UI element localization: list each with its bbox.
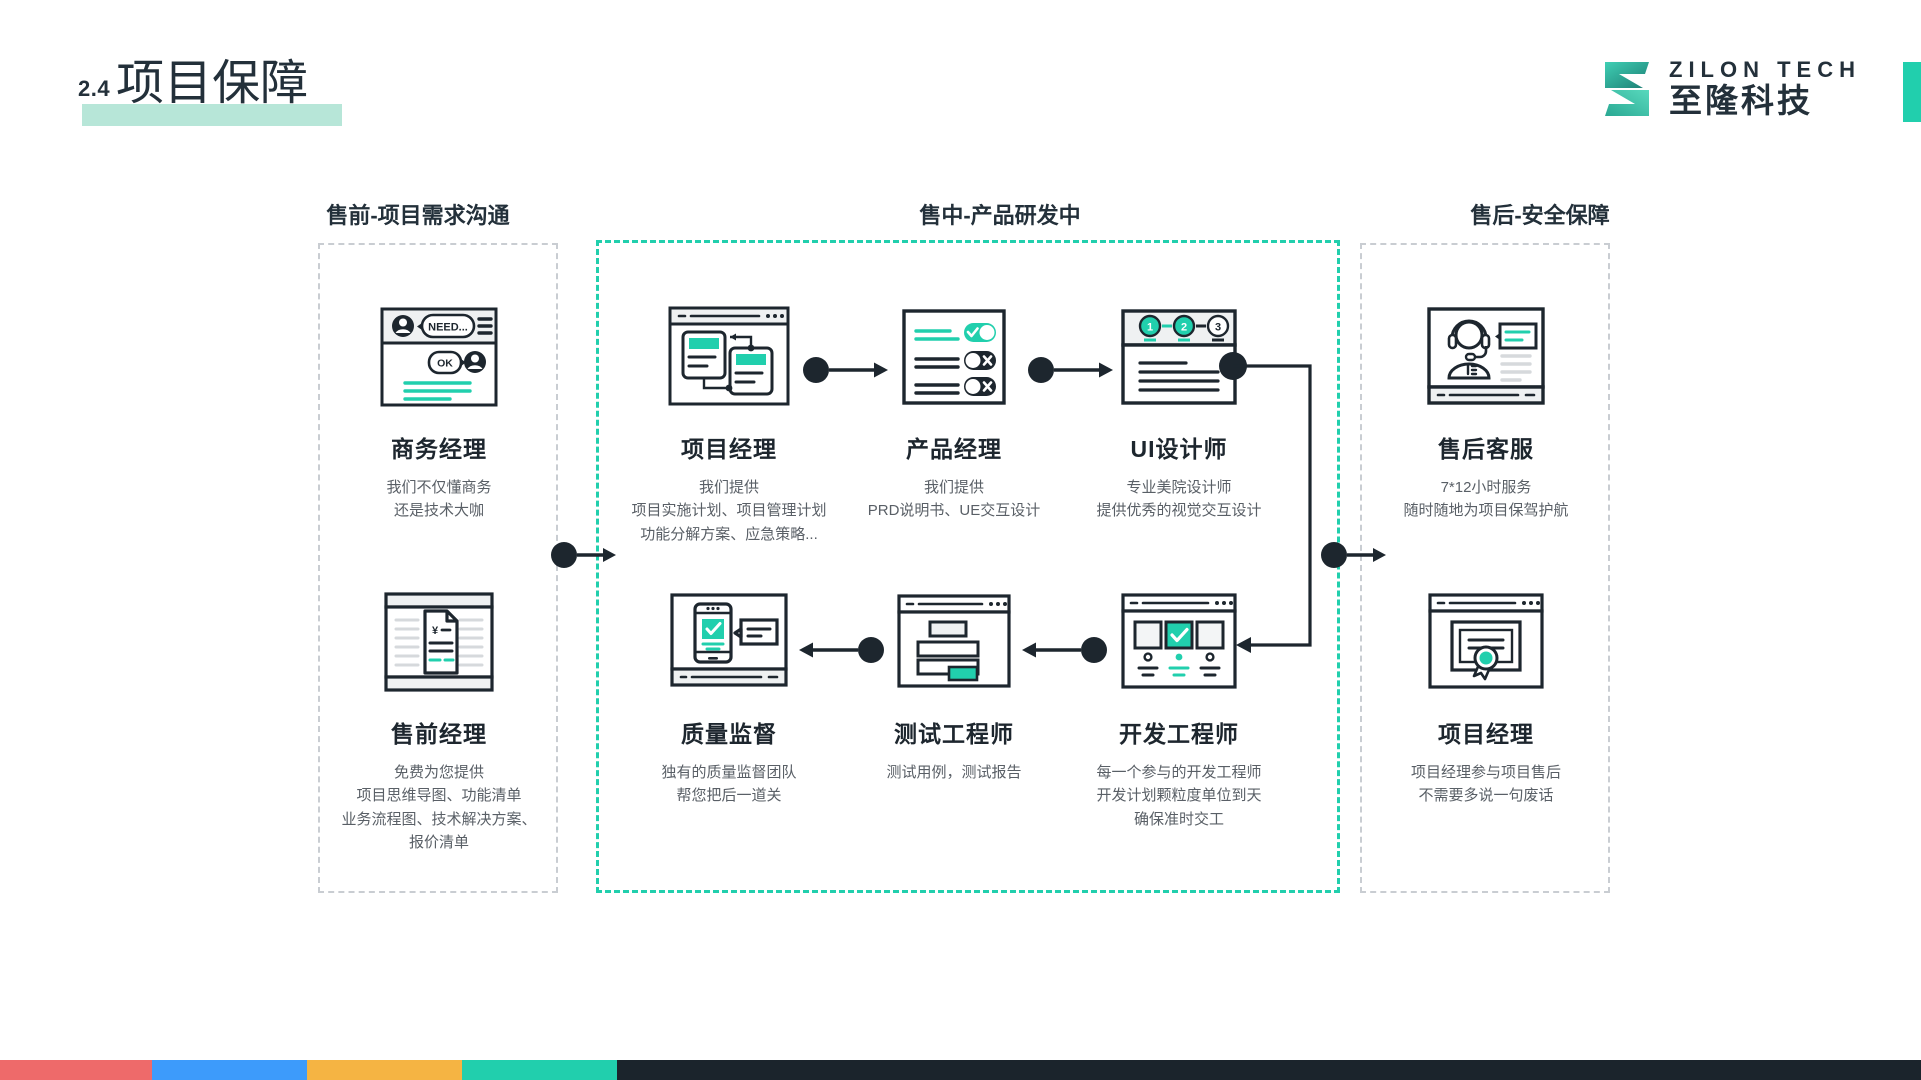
card-business-manager: NEED... OK 商务经理 我们不仅懂商务 还是技术大咖 (315, 298, 563, 523)
bottom-bar-segment-1 (0, 1060, 152, 1080)
bottom-bar-segment-3 (307, 1060, 462, 1080)
svg-text:NEED...: NEED... (428, 322, 468, 334)
card-desc: 独有的质量监督团队 帮您把后一道关 (605, 761, 853, 808)
svg-text:2: 2 (1181, 322, 1187, 334)
brand-logo: ZILON TECH 至隆科技 (1599, 58, 1861, 120)
card-presale-manager: ¥ 售前经理 免费为您提供 项目思维导图、功能清单 业务流程图、技术解决方案、 … (315, 583, 563, 854)
bottom-bar-segment-4 (462, 1060, 617, 1080)
chat-window-icon: NEED... OK (315, 298, 563, 416)
card-title: 质量监督 (605, 715, 853, 749)
edge-accent-bar (1903, 62, 1921, 122)
card-title: 测试工程师 (830, 715, 1078, 749)
svg-text:1: 1 (1147, 322, 1153, 334)
card-desc: 免费为您提供 项目思维导图、功能清单 业务流程图、技术解决方案、 报价清单 (315, 761, 563, 854)
certificate-window-icon (1362, 583, 1610, 701)
bottom-bar-segment-2 (152, 1060, 307, 1080)
section-header-in-sale: 售中-产品研发中 (750, 198, 1250, 230)
svg-text:OK: OK (437, 358, 453, 370)
connector-product-to-ui (1025, 350, 1115, 390)
connector-dev-to-test (1020, 630, 1110, 670)
card-title: 售前经理 (315, 715, 563, 749)
card-desc: 我们不仅懂商务 还是技术大咖 (315, 476, 563, 523)
card-title: 项目经理 (605, 430, 853, 464)
connector-insale-to-postsale (1318, 535, 1388, 575)
page-title-group: 2.4 项目保障 (78, 60, 308, 108)
card-title: 项目经理 (1362, 715, 1610, 749)
card-project-manager: 项目经理 我们提供 项目实施计划、项目管理计划 功能分解方案、应急策略... (605, 298, 853, 546)
bottom-color-bar (0, 1060, 1921, 1080)
card-after-sale-support: 售后客服 7*12小时服务 随时随地为项目保驾护航 (1362, 298, 1610, 523)
connector-test-to-qa (797, 630, 887, 670)
card-product-manager: 产品经理 我们提供 PRD说明书、UE交互设计 (830, 298, 1078, 523)
card-title: 商务经理 (315, 430, 563, 464)
card-desc: 测试用例，测试报告 (830, 761, 1078, 784)
connector-presale-to-insale (548, 535, 618, 575)
card-desc: 我们提供 PRD说明书、UE交互设计 (830, 476, 1078, 523)
card-title: 产品经理 (830, 430, 1078, 464)
svg-text:¥: ¥ (432, 625, 439, 637)
connector-pm-to-product (800, 350, 890, 390)
zilon-ribbon-icon (1599, 58, 1655, 120)
logo-text-en: ZILON TECH (1669, 58, 1861, 82)
section-number: 2.4 (78, 76, 110, 108)
connector-ui-to-dev (1210, 350, 1330, 660)
svg-text:3: 3 (1215, 322, 1221, 334)
card-test-engineer: 测试工程师 测试用例，测试报告 (830, 583, 1078, 784)
section-header-pre-sale: 售前-项目需求沟通 (268, 198, 568, 230)
card-desc: 项目经理参与项目售后 不需要多说一句废话 (1362, 761, 1610, 808)
card-desc: 每一个参与的开发工程师 开发计划颗粒度单位到天 确保准时交工 (1055, 761, 1303, 831)
card-title: 开发工程师 (1055, 715, 1303, 749)
card-desc: 7*12小时服务 随时随地为项目保驾护航 (1362, 476, 1610, 523)
card-desc: 我们提供 项目实施计划、项目管理计划 功能分解方案、应急策略... (605, 476, 853, 546)
bottom-bar-segment-5 (617, 1060, 1921, 1080)
card-qa-supervisor: 质量监督 独有的质量监督团队 帮您把后一道关 (605, 583, 853, 808)
headset-agent-icon (1362, 298, 1610, 416)
section-header-post-sale: 售后-安全保障 (1390, 198, 1690, 230)
logo-text-cn: 至隆科技 (1669, 82, 1861, 120)
card-post-project-manager: 项目经理 项目经理参与项目售后 不需要多说一句废话 (1362, 583, 1610, 808)
page-title: 项目保障 (116, 60, 308, 108)
page-header: 2.4 项目保障 ZILON TECH 至隆科技 (0, 0, 1921, 160)
card-title: 售后客服 (1362, 430, 1610, 464)
document-invoice-icon: ¥ (315, 583, 563, 701)
